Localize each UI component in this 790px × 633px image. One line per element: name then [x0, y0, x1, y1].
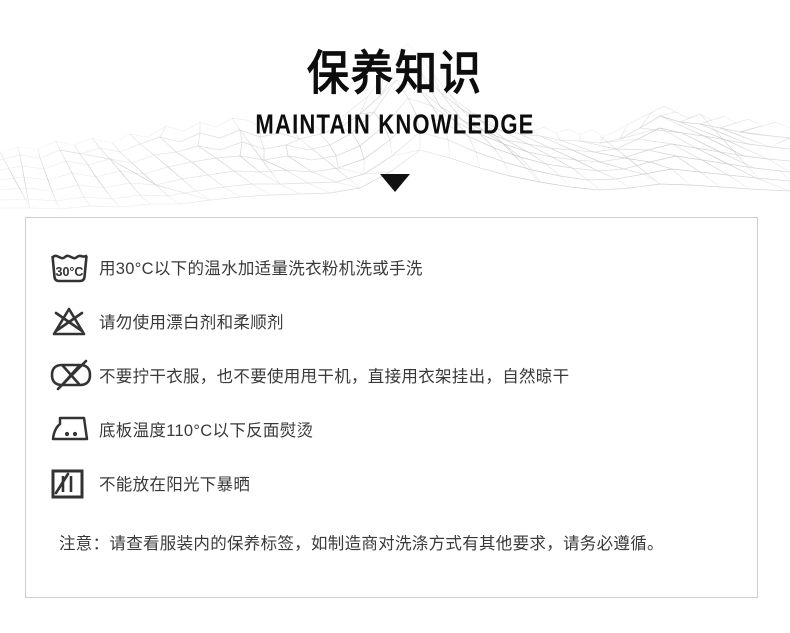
list-item: 底板温度110°C以下反面熨烫: [26, 402, 757, 456]
iron-two-dots-icon: [49, 409, 99, 449]
do-not-bleach-triangle-icon: [49, 301, 99, 341]
list-item-label: 底板温度110°C以下反面熨烫: [99, 417, 313, 441]
page-header: 保养知识 MAINTAIN KNOWLEDGE: [0, 0, 790, 212]
list-item-label: 用30°C以下的温水加适量洗衣粉机洗或手洗: [99, 255, 423, 279]
page-title-cn: 保养知识: [0, 49, 790, 98]
list-item-label: 不要拧干衣服，也不要使用甩干机，直接用衣架挂出，自然晾干: [99, 363, 569, 387]
care-note: 注意：请查看服装内的保养标签，如制造商对洗涤方式有其他要求，请务必遵循。: [26, 530, 757, 554]
wash-temp-label: 30°C: [56, 265, 84, 279]
list-item-label: 请勿使用漂白剂和柔顺剂: [99, 309, 284, 333]
no-direct-sunlight-dry-icon: [49, 463, 99, 503]
list-item-label: 不能放在阳光下暴晒: [99, 471, 250, 495]
list-item: 请勿使用漂白剂和柔顺剂: [26, 294, 757, 348]
chevron-down-triangle-icon: [378, 173, 412, 193]
list-item: 不要拧干衣服，也不要使用甩干机，直接用衣架挂出，自然晾干: [26, 348, 757, 402]
do-not-wring-icon: [49, 355, 99, 395]
care-instructions-list: 30°C 用30°C以下的温水加适量洗衣粉机洗或手洗 请勿使用漂白剂和柔顺剂: [26, 218, 757, 510]
wash-tub-30c-icon: 30°C: [49, 247, 99, 287]
list-item: 30°C 用30°C以下的温水加适量洗衣粉机洗或手洗: [26, 240, 757, 294]
page-title-en: MAINTAIN KNOWLEDGE: [16, 108, 774, 141]
care-instructions-card: 30°C 用30°C以下的温水加适量洗衣粉机洗或手洗 请勿使用漂白剂和柔顺剂: [25, 217, 758, 598]
list-item: 不能放在阳光下暴晒: [26, 456, 757, 510]
